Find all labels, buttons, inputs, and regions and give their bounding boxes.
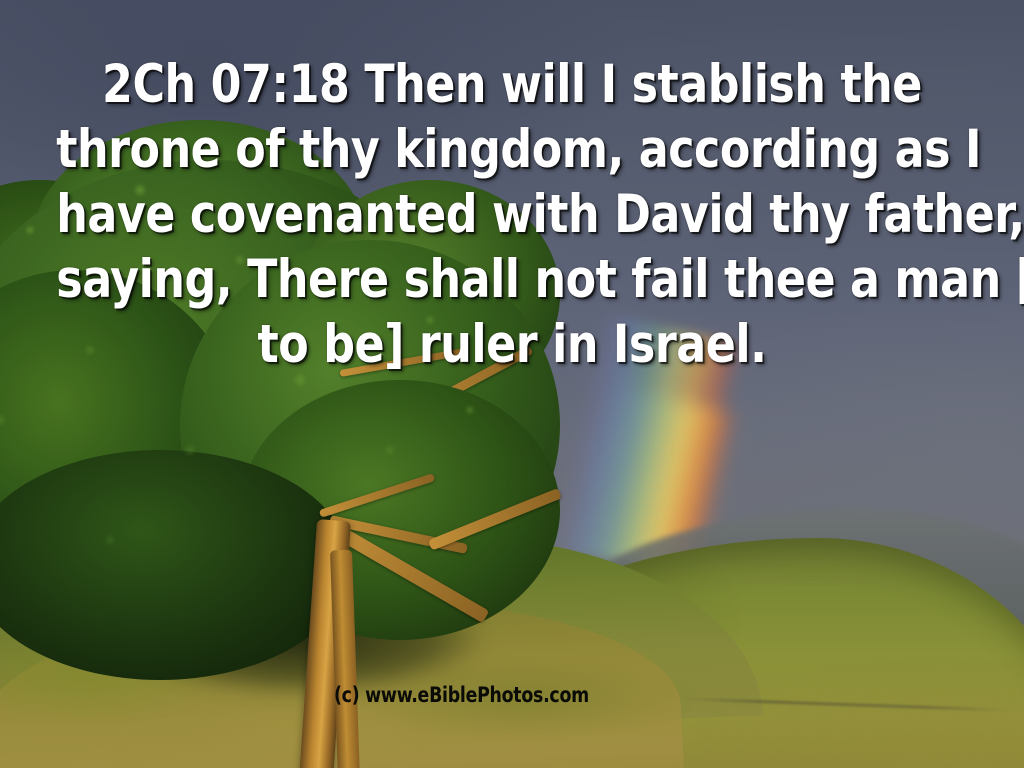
bible-verse-image: 2Ch 07:18 Then will I stablish the thron… — [0, 0, 1024, 768]
verse-text-overlay: 2Ch 07:18 Then will I stablish the thron… — [36, 52, 988, 377]
verse-line-1: 2Ch 07:18 Then will I stablish the — [56, 52, 967, 117]
watermark-credit: (c) www.eBiblePhotos.com — [334, 683, 589, 707]
verse-line-3: have covenanted with David thy father, — [56, 182, 967, 247]
verse-line-5: to be] ruler in Israel. — [56, 312, 967, 377]
verse-line-4: saying, There shall not fail thee a man … — [56, 247, 967, 312]
verse-line-2: throne of thy kingdom, according as I — [56, 117, 967, 182]
